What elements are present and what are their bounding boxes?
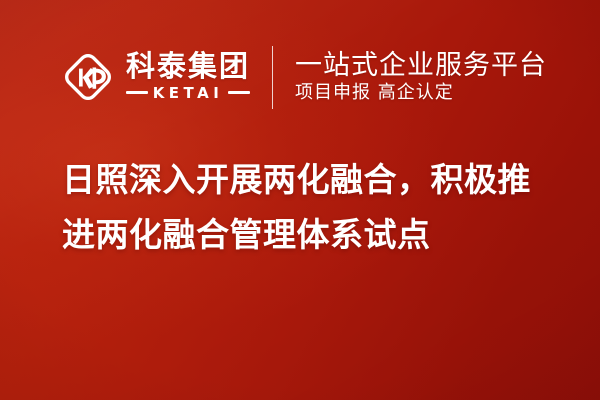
brand-logo[interactable]: 科泰集团 KETAI: [60, 49, 250, 105]
tagline-secondary: 项目申报 高企认定: [295, 83, 547, 103]
promo-banner: 科泰集团 KETAI 一站式企业服务平台 项目申报 高企认定 日照深入开展两化融…: [0, 0, 600, 400]
headline-title: 日照深入开展两化融合，积极推进两化融合管理体系试点: [62, 152, 554, 262]
brand-wordmark: 科泰集团 KETAI: [126, 52, 250, 102]
brand-name-en-row: KETAI: [126, 84, 250, 102]
vertical-divider: [272, 46, 273, 109]
tagline-block: 一站式企业服务平台 项目申报 高企认定: [295, 51, 547, 103]
wordmark-rule-right: [228, 91, 250, 94]
ketai-diamond-kp-icon: [60, 49, 116, 105]
banner-header: 科泰集团 KETAI 一站式企业服务平台 项目申报 高企认定: [60, 40, 547, 114]
brand-name-en: KETAI: [153, 84, 224, 102]
brand-name-cn: 科泰集团: [126, 52, 250, 82]
wordmark-rule-left: [126, 91, 148, 94]
tagline-primary: 一站式企业服务平台: [295, 51, 547, 80]
